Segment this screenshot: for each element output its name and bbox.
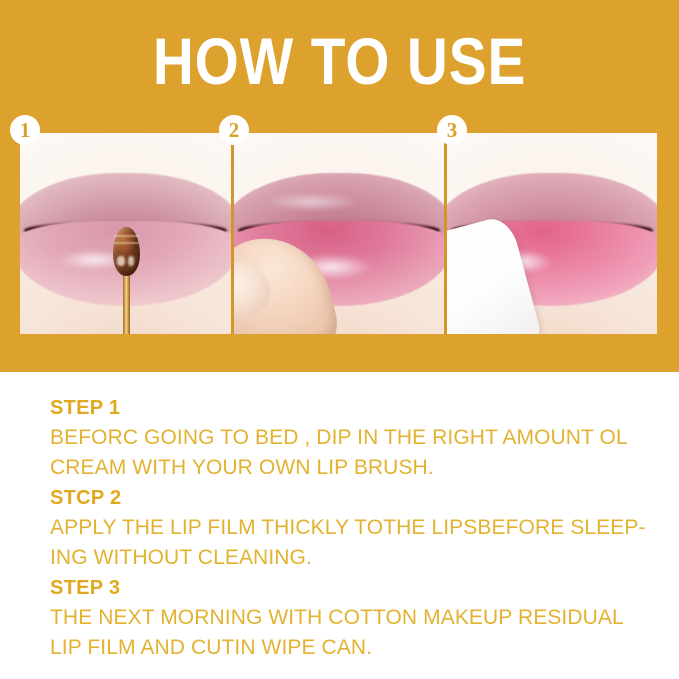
step-heading-2: STCP 2 — [50, 483, 650, 513]
steps-list: STEP 1 BEFORC GOING TO BED , DIP IN THE … — [50, 393, 650, 663]
applicator-band — [114, 242, 139, 244]
lip-brush-applicator-icon — [113, 227, 140, 334]
step-badge-1: 1 — [10, 115, 40, 145]
step-heading-1: STEP 1 — [50, 393, 650, 423]
applicator-highlight — [117, 256, 125, 266]
page-title: HOW TO USE — [48, 26, 632, 96]
step-body-3: THE NEXT MORNING WITH COTTON MAKEUP RESI… — [50, 603, 650, 663]
step-badge-2: 2 — [219, 115, 249, 145]
step-body-2: APPLY THE LIP FILM THICKLY TOTHE LIPSBEF… — [50, 513, 650, 573]
step-image-1 — [20, 133, 231, 334]
applicator-highlight — [128, 256, 134, 266]
photo-strip — [20, 133, 659, 334]
fingernail — [234, 256, 275, 325]
step-badge-3: 3 — [437, 115, 467, 145]
step-body-1: BEFORC GOING TO BED , DIP IN THE RIGHT A… — [50, 423, 650, 483]
step-image-2 — [234, 133, 444, 334]
applicator-band — [114, 235, 139, 237]
step-heading-3: STEP 3 — [50, 573, 650, 603]
step-image-3 — [447, 133, 657, 334]
how-to-use-infographic: HOW TO USE — [0, 0, 679, 679]
upper-lip-gloss-2 — [263, 193, 360, 211]
applicator-bulb — [113, 227, 140, 276]
applicator-stick — [123, 274, 131, 334]
